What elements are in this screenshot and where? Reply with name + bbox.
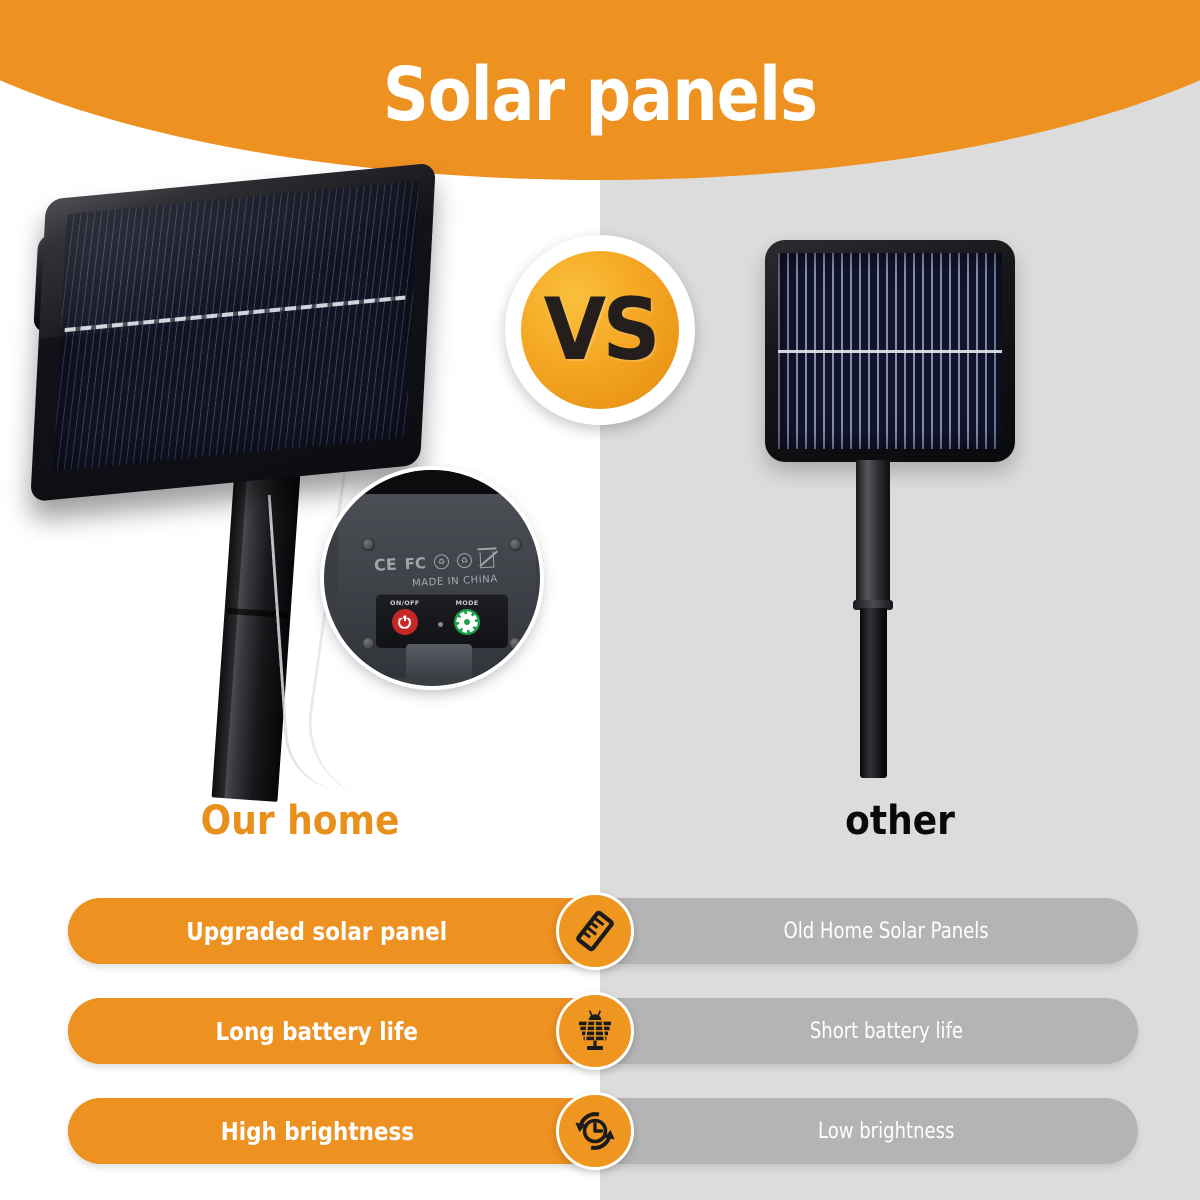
row-theirs-label: Low brightness: [818, 1119, 954, 1144]
clock-refresh-icon: [556, 1092, 634, 1170]
fc-mark-label: FC: [404, 554, 426, 573]
ce-mark-label: CE: [374, 555, 398, 575]
product-image-other: [740, 230, 1050, 790]
row-theirs-label: Old Home Solar Panels: [783, 919, 988, 944]
row-theirs-bar[interactable]: Short battery life: [600, 998, 1138, 1064]
certification-marks: CE FC ♻ ♻: [374, 548, 521, 575]
rear-plate: CE FC ♻ ♻ MADE IN CHINA ON/OFF MODE: [338, 494, 536, 678]
screw-icon: [509, 637, 522, 650]
page-title: Solar panels: [84, 52, 1116, 138]
row-theirs-bar[interactable]: Old Home Solar Panels: [600, 898, 1138, 964]
pole-upper-segment: [856, 460, 890, 605]
onoff-button[interactable]: ON/OFF: [390, 599, 420, 635]
waste-bin-icon: ♻: [434, 554, 450, 570]
panel-frame: [765, 240, 1015, 462]
onoff-button-label: ON/OFF: [390, 599, 420, 607]
recycle-icon: ♻: [457, 553, 473, 569]
gear-icon: [454, 609, 480, 635]
row-ours-label: High brightness: [220, 1117, 413, 1146]
comparison-table: Upgraded solar panel Old Home Solar Pane…: [0, 898, 1200, 1198]
mode-button[interactable]: MODE: [454, 599, 480, 635]
table-row: Long battery life Short battery life: [0, 998, 1200, 1064]
crossed-bin-icon: [479, 551, 494, 568]
origin-label: MADE IN CHINA: [412, 574, 498, 589]
column-label-our-home: Our home: [30, 798, 570, 844]
mode-button-label: MODE: [455, 599, 478, 607]
solar-panel-icon: [556, 992, 634, 1070]
vs-badge: VS: [505, 235, 695, 425]
table-row: Upgraded solar panel Old Home Solar Pane…: [0, 898, 1200, 964]
power-icon: [392, 609, 418, 635]
photovoltaic-cell-surface: [778, 253, 1002, 449]
row-ours-bar[interactable]: High brightness: [68, 1098, 600, 1164]
screw-icon: [362, 538, 375, 551]
vs-badge-fill: VS: [521, 251, 679, 409]
row-ours-bar[interactable]: Long battery life: [68, 998, 600, 1064]
battery-compartment-tab: [406, 644, 472, 678]
control-button-panel: ON/OFF MODE: [376, 594, 508, 648]
cell-busbar: [778, 350, 1002, 353]
table-row: High brightness Low brightness: [0, 1098, 1200, 1164]
infographic-canvas: Solar panels CE FC ♻ ♻: [0, 0, 1200, 1200]
row-ours-label: Long battery life: [216, 1017, 418, 1046]
status-led-icon: [438, 622, 443, 627]
vs-badge-label: VS: [543, 280, 656, 380]
inset-detail-control-panel: CE FC ♻ ♻ MADE IN CHINA ON/OFF MODE: [324, 470, 540, 686]
panel-housing-top: [30, 163, 436, 502]
row-ours-label: Upgraded solar panel: [187, 917, 448, 946]
row-theirs-bar[interactable]: Low brightness: [600, 1098, 1138, 1164]
column-label-other: other: [630, 798, 1170, 844]
ruler-icon: [556, 892, 634, 970]
screw-icon: [362, 637, 375, 650]
row-ours-bar[interactable]: Upgraded solar panel: [68, 898, 600, 964]
row-theirs-label: Short battery life: [809, 1019, 962, 1044]
pole-lower-segment: [860, 608, 887, 778]
